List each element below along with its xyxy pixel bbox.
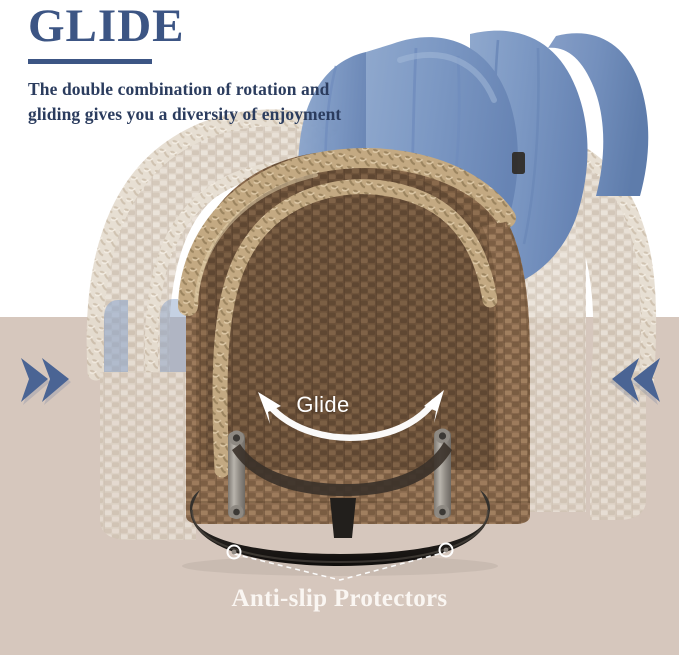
title-underline-rule xyxy=(28,59,152,64)
header-block: GLIDE The double combination of rotation… xyxy=(28,2,428,127)
glide-annotation-label: Glide xyxy=(296,392,349,418)
subtitle-line-1: The double combination of rotation and xyxy=(28,77,428,102)
brand-tag xyxy=(512,152,525,174)
subtitle: The double combination of rotation and g… xyxy=(28,77,428,127)
double-chevron-left-icon xyxy=(603,352,665,408)
subtitle-line-2: gliding gives you a diversity of enjoyme… xyxy=(28,102,428,127)
double-chevron-right-icon xyxy=(16,352,78,408)
antislip-protectors-caption: Anti-slip Protectors xyxy=(0,585,679,613)
product-feature-image: GLIDE The double combination of rotation… xyxy=(0,0,679,655)
page-title: GLIDE xyxy=(28,2,428,51)
